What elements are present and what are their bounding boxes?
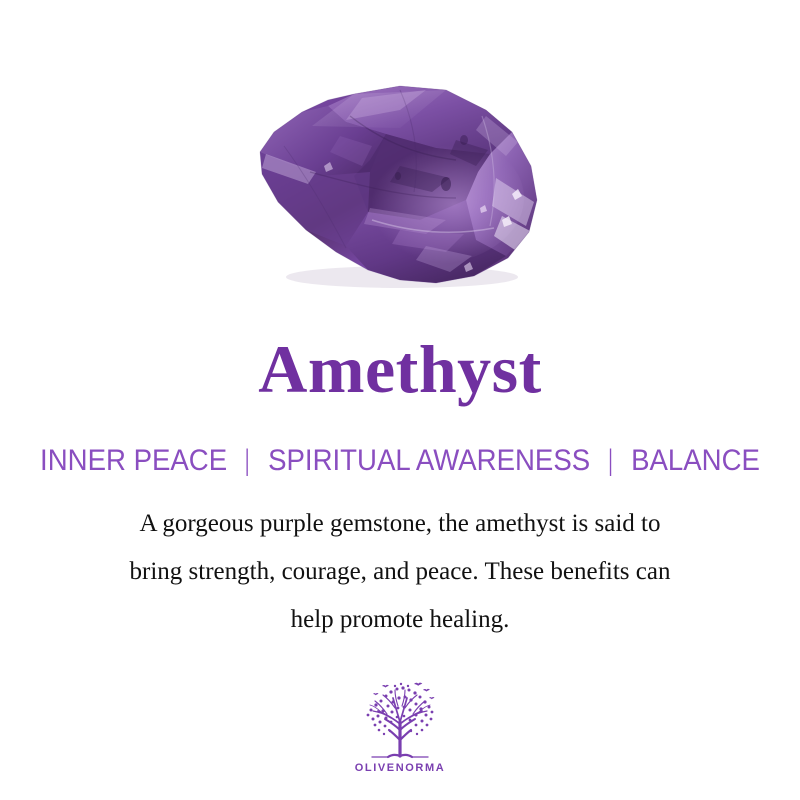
keyword-list: INNER PEACE | SPIRITUAL AWARENESS | BALA… — [32, 443, 768, 479]
gemstone-image — [250, 80, 550, 290]
page-title: Amethyst — [0, 332, 800, 406]
tree-of-life-icon — [357, 678, 443, 760]
brand-name: OLIVENORMA — [355, 762, 446, 774]
description-paragraph: A gorgeous purple gemstone, the amethyst… — [60, 500, 740, 644]
keyword-balance: BALANCE — [631, 444, 760, 477]
keyword-spiritual-awareness: SPIRITUAL AWARENESS — [268, 444, 590, 477]
amethyst-info-card: Amethyst INNER PEACE | SPIRITUAL AWARENE… — [0, 0, 800, 800]
keyword-inner-peace: INNER PEACE — [40, 444, 227, 477]
description-line: bring strength, courage, and peace. Thes… — [60, 548, 740, 596]
keyword-separator: | — [245, 443, 249, 479]
description-line: A gorgeous purple gemstone, the amethyst… — [60, 500, 740, 548]
keyword-separator: | — [608, 443, 612, 479]
description-line: help promote healing. — [60, 596, 740, 644]
brand-logo: OLIVENORMA — [0, 678, 800, 774]
amethyst-crystal-icon — [250, 80, 550, 290]
